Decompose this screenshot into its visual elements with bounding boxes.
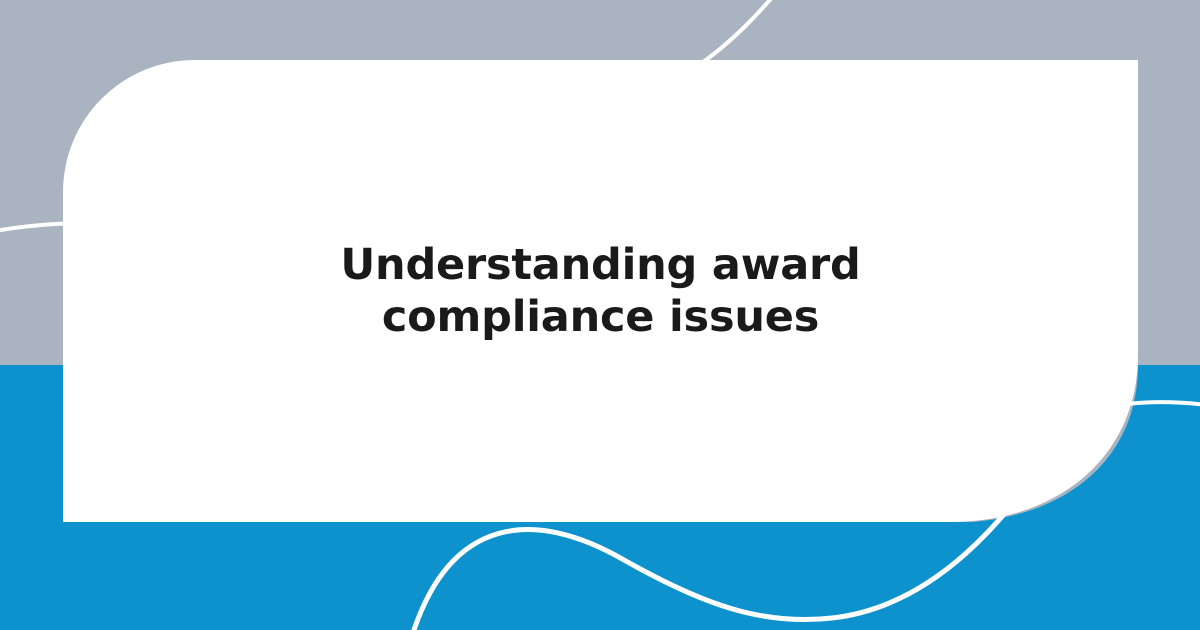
page-title: Understanding award compliance issues — [226, 239, 976, 344]
title-container: Understanding award compliance issues — [63, 60, 1138, 522]
social-card-canvas: Understanding award compliance issues — [0, 0, 1200, 630]
content-card: Understanding award compliance issues — [63, 60, 1138, 522]
